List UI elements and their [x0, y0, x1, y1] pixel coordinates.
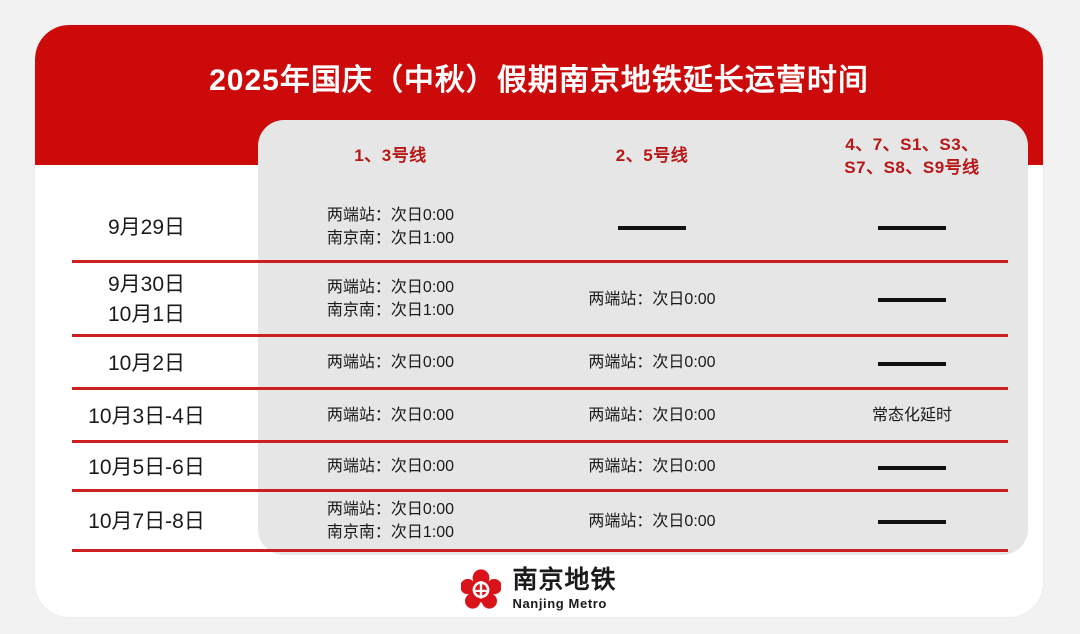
cell-line-2-5: [523, 226, 781, 230]
no-service-dash: [878, 520, 946, 524]
cell-line-1-3: 两端站：次日0:00: [258, 405, 523, 428]
table-row: 10月2日两端站：次日0:00两端站：次日0:00: [35, 337, 1043, 390]
cell-line-1-3: 两端站：次日0:00南京南：次日1:00: [258, 277, 523, 322]
cell-date: 10月5日-6日: [35, 453, 258, 483]
footer-branding: 南京地铁 Nanjing Metro: [35, 560, 1043, 617]
table-row: 10月7日-8日两端站：次日0:00南京南：次日1:00两端站：次日0:00: [35, 492, 1043, 552]
row-separator: [72, 549, 1008, 552]
cell-line-1-3: 两端站：次日0:00: [258, 456, 523, 479]
table-body: 9月29日两端站：次日0:00南京南：次日1:009月30日10月1日两端站：次…: [35, 193, 1043, 552]
cell-line-1-3: 两端站：次日0:00南京南：次日1:00: [258, 499, 523, 544]
logo-wordmark: 南京地铁 Nanjing Metro: [512, 568, 616, 610]
cell-date: 10月2日: [35, 349, 258, 379]
no-service-dash: [878, 362, 946, 366]
cell-line-4-7-s: 常态化延时: [781, 405, 1043, 428]
column-header-line-1-3: 1、3号线: [258, 120, 523, 193]
cell-date: 9月29日: [35, 213, 258, 243]
column-header-line-2-5: 2、5号线: [523, 120, 781, 193]
cell-line-4-7-s: [781, 362, 1043, 366]
cell-line-1-3: 两端站：次日0:00: [258, 352, 523, 375]
column-header-line-4-7-s: 4、7、S1、S3、S7、S8、S9号线: [781, 120, 1043, 193]
info-card: 2025年国庆（中秋）假期南京地铁延长运营时间 1、3号线 2、5号线 4、7、…: [35, 25, 1043, 617]
schedule-table: 1、3号线 2、5号线 4、7、S1、S3、S7、S8、S9号线 9月29日两端…: [35, 25, 1043, 555]
cell-line-4-7-s: [781, 298, 1043, 302]
cell-date: 9月30日10月1日: [35, 270, 258, 330]
cell-date: 10月3日-4日: [35, 402, 258, 432]
cell-line-1-3: 两端站：次日0:00南京南：次日1:00: [258, 205, 523, 250]
column-header-date: [35, 120, 258, 193]
plum-blossom-metro-icon: [461, 569, 501, 609]
cell-line-2-5: 两端站：次日0:00: [523, 405, 781, 428]
no-service-dash: [878, 226, 946, 230]
cell-line-4-7-s: [781, 466, 1043, 470]
table-row: 10月3日-4日两端站：次日0:00两端站：次日0:00常态化延时: [35, 390, 1043, 443]
no-service-dash: [878, 466, 946, 470]
cell-line-4-7-s: [781, 520, 1043, 524]
logo-name-en: Nanjing Metro: [512, 597, 606, 610]
logo-name-cn: 南京地铁: [512, 568, 616, 593]
table-row: 9月30日10月1日两端站：次日0:00南京南：次日1:00两端站：次日0:00: [35, 263, 1043, 337]
no-service-dash: [878, 298, 946, 302]
no-service-dash: [618, 226, 686, 230]
cell-date: 10月7日-8日: [35, 507, 258, 537]
cell-line-2-5: 两端站：次日0:00: [523, 511, 781, 534]
cell-line-2-5: 两端站：次日0:00: [523, 289, 781, 312]
table-row: 10月5日-6日两端站：次日0:00两端站：次日0:00: [35, 443, 1043, 492]
table-row: 9月29日两端站：次日0:00南京南：次日1:00: [35, 193, 1043, 263]
cell-line-4-7-s: [781, 226, 1043, 230]
nanjing-metro-logo: 南京地铁 Nanjing Metro: [461, 568, 616, 610]
table-header-row: 1、3号线 2、5号线 4、7、S1、S3、S7、S8、S9号线: [35, 120, 1043, 193]
cell-line-2-5: 两端站：次日0:00: [523, 456, 781, 479]
cell-line-2-5: 两端站：次日0:00: [523, 352, 781, 375]
